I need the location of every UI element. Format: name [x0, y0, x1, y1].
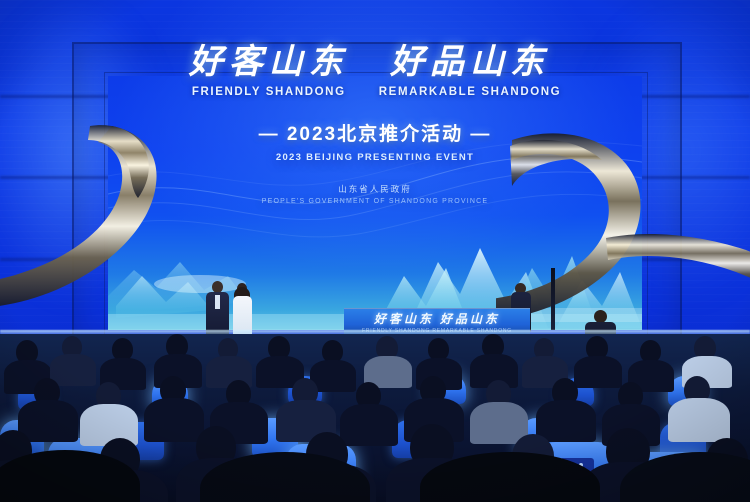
slogan-left-chinese: 好客山东: [189, 46, 349, 80]
stage-pole: [551, 268, 555, 330]
slogan-right-chinese: 好品山东: [390, 46, 550, 80]
audience-shoulders: [340, 404, 398, 446]
slogan-right-english: REMARKABLE SHANDONG: [379, 86, 561, 98]
organizer-chinese: 山东省人民政府: [0, 183, 750, 195]
audience-shoulders: [574, 356, 622, 388]
event-line-chinese: — 2023北京推介活动 —: [0, 119, 750, 146]
organizer-english: PEOPLE'S GOVERNMENT OF SHANDONG PROVINCE: [0, 198, 750, 205]
audience-area: [0, 334, 750, 502]
audience-shoulders: [668, 398, 730, 442]
audience-shoulders: [536, 400, 596, 442]
event-line-english: 2023 BEIJING PRESENTING EVENT: [0, 152, 750, 163]
slogan-right: 好品山东 REMARKABLE SHANDONG: [379, 46, 561, 98]
slogan-row: 好客山东 FRIENDLY SHANDONG 好品山东 REMARKABLE S…: [0, 46, 750, 98]
audience-shoulders: [144, 398, 204, 442]
podium-banner-chinese: 好客山东 好品山东: [374, 313, 500, 325]
screen-title-block: 好客山东 FRIENDLY SHANDONG 好品山东 REMARKABLE S…: [0, 46, 750, 205]
audience-shoulders: [50, 354, 96, 386]
slogan-left: 好客山东 FRIENDLY SHANDONG: [189, 46, 349, 98]
slogan-left-english: FRIENDLY SHANDONG: [192, 86, 346, 98]
event-photo: 好客山东 FRIENDLY SHANDONG 好品山东 REMARKABLE S…: [0, 0, 750, 502]
